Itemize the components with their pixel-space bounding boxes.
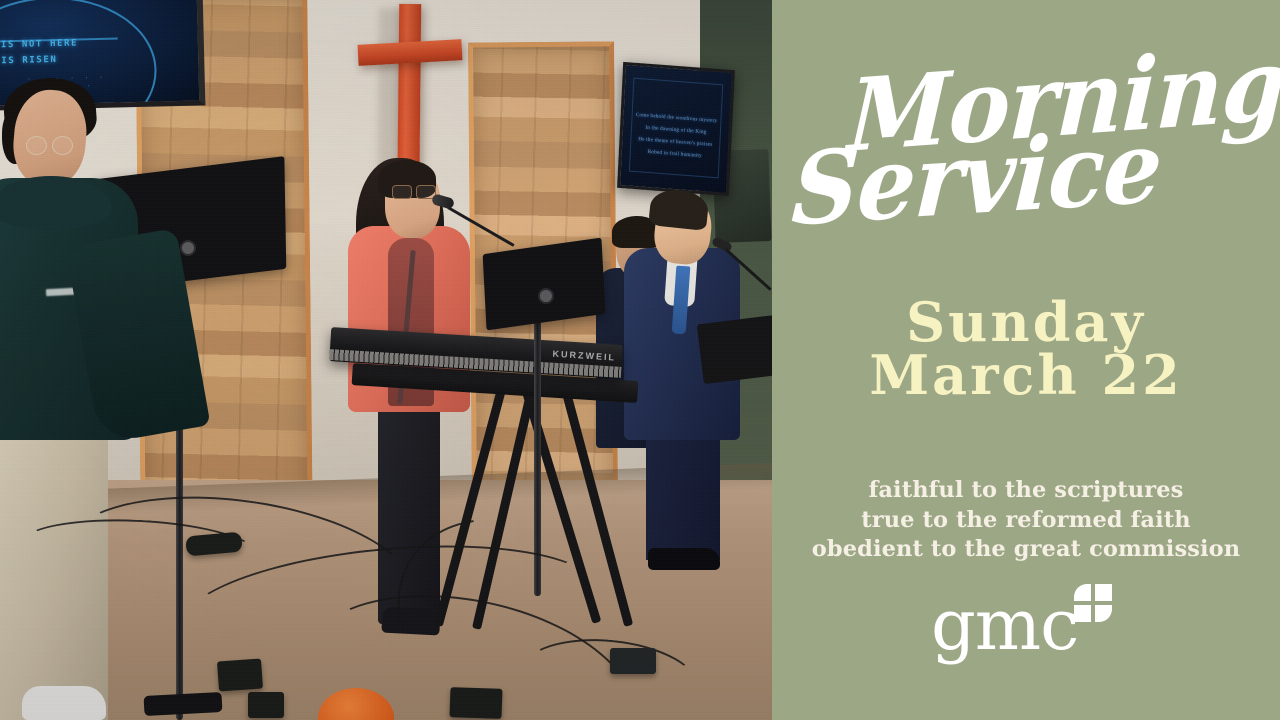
church-tagline: faithful to the scriptures true to the r… — [772, 476, 1280, 565]
service-announcement-poster: HE IS NOT HERE HE IS RISEN . . . . . . .… — [0, 0, 1280, 720]
gmc-wordmark: gmc — [931, 590, 1081, 660]
date-month-day: March 22 — [772, 349, 1280, 402]
logo-tile-bottom-left — [1074, 605, 1091, 622]
hoodie-person-shoe — [22, 686, 106, 720]
suited-singer-shoe — [648, 548, 720, 570]
gmc-window-cross-icon — [1074, 584, 1114, 624]
center-lyrics-screen: Come behold the wondrous mystery In the … — [617, 62, 735, 196]
left-screen-line-2: HE IS RISEN — [0, 55, 58, 67]
hoodie-person-round-glasses — [26, 136, 86, 156]
logo-tile-bottom-right — [1095, 605, 1112, 622]
service-date: Sunday March 22 — [772, 296, 1280, 403]
worship-team-photo: HE IS NOT HERE HE IS RISEN . . . . . . .… — [0, 0, 772, 720]
gmc-logo: gmc — [772, 584, 1280, 680]
podium-music-stand — [697, 312, 772, 384]
keyboard-brand-label: KURZWEIL — [552, 349, 616, 363]
tagline-line-3: obedient to the great commission — [772, 535, 1280, 565]
logo-tile-top-right — [1095, 584, 1112, 601]
date-day-of-week: Sunday — [772, 296, 1280, 349]
suited-singer-legs — [646, 420, 720, 560]
tagline-line-1: faithful to the scriptures — [772, 476, 1280, 506]
floor-pedal — [217, 659, 263, 692]
music-stand-knob — [538, 288, 554, 304]
page-title: Morning Service — [772, 58, 1280, 218]
info-panel: Morning Service Sunday March 22 faithful… — [772, 0, 1280, 720]
music-stand-base — [144, 692, 223, 716]
logo-tile-top-left — [1074, 584, 1091, 601]
floor-pedal — [248, 692, 284, 718]
floor-pedal — [610, 648, 656, 674]
tagline-line-2: true to the reformed faith — [772, 506, 1280, 536]
title-line-service: Service — [790, 121, 1164, 236]
music-stand-knob — [180, 240, 196, 256]
floor-pedal — [449, 687, 502, 719]
